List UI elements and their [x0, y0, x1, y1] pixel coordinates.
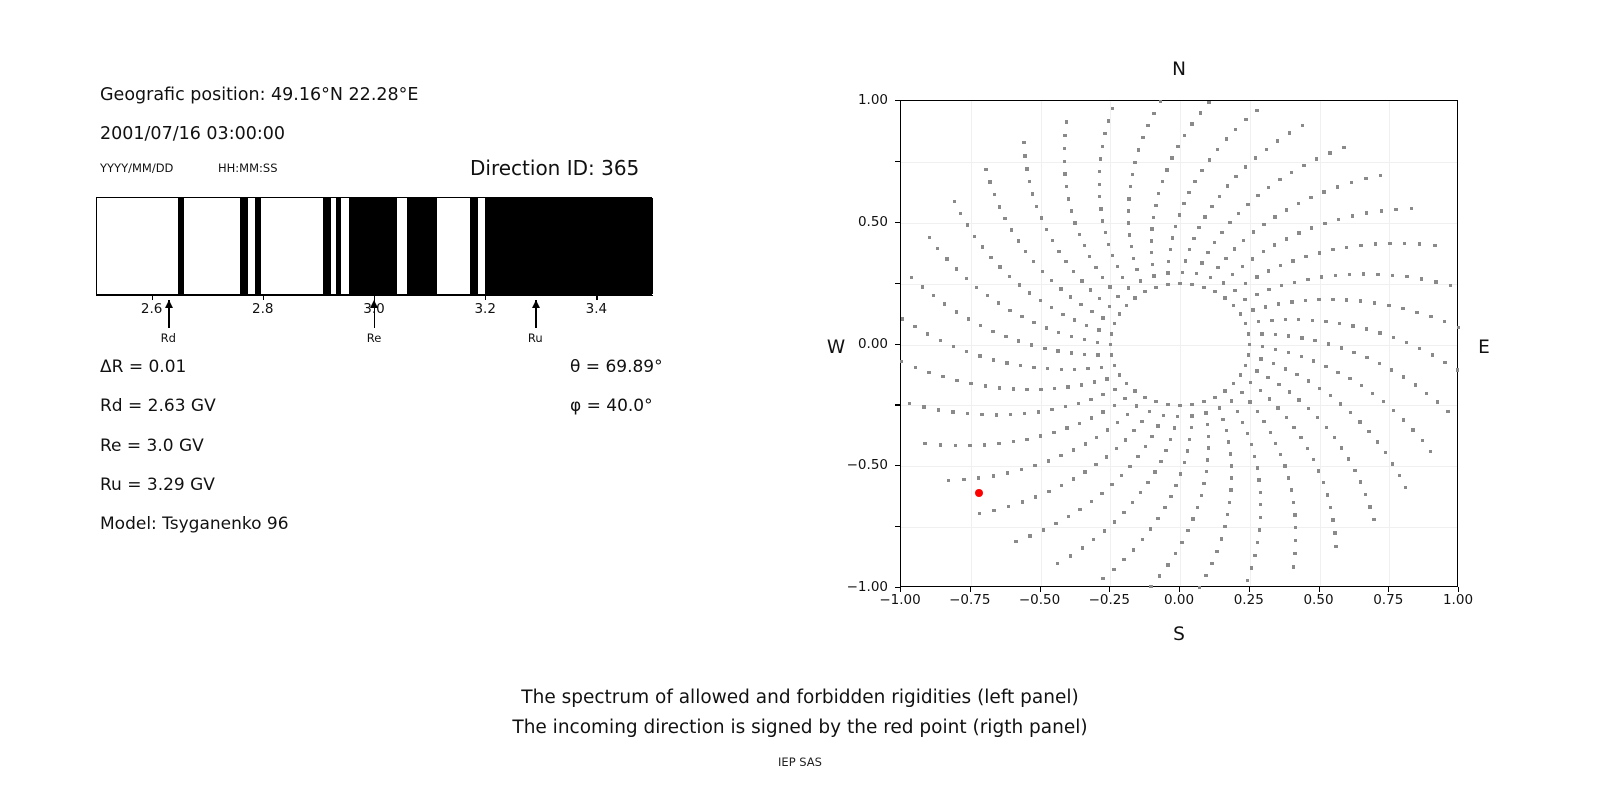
direction-point — [1329, 506, 1332, 509]
direction-point — [1336, 371, 1339, 374]
direction-point — [1306, 447, 1309, 450]
direction-point — [1300, 355, 1303, 358]
direction-point — [1132, 257, 1135, 260]
grid-line-vertical — [1041, 101, 1042, 586]
direction-point — [1279, 453, 1282, 456]
direction-point — [1292, 501, 1295, 504]
direction-point — [1149, 527, 1152, 530]
direction-point — [1274, 348, 1277, 351]
direction-point — [1220, 537, 1223, 540]
plot-x-tick-label: 0.00 — [1164, 592, 1194, 608]
direction-point — [1283, 464, 1286, 467]
direction-point — [1359, 299, 1362, 302]
direction-point — [1053, 387, 1056, 390]
direction-point — [1083, 470, 1086, 473]
direction-point — [1065, 120, 1068, 123]
direction-point — [1199, 111, 1202, 114]
direction-point — [1255, 293, 1258, 296]
direction-point — [1178, 282, 1181, 285]
direction-point — [1111, 107, 1114, 110]
direction-point — [1125, 382, 1128, 385]
direction-point — [1405, 275, 1408, 278]
direction-point — [1379, 174, 1382, 177]
direction-point — [1290, 171, 1293, 174]
direction-point — [1285, 416, 1288, 419]
direction-point — [1182, 202, 1185, 205]
direction-point — [1226, 513, 1229, 516]
direction-point — [1215, 550, 1218, 553]
direction-point — [1297, 231, 1300, 234]
direction-point — [1244, 322, 1247, 325]
direction-point — [1322, 190, 1325, 193]
direction-point — [1337, 218, 1340, 221]
direction-point — [998, 205, 1001, 208]
direction-point — [1132, 429, 1135, 432]
direction-point — [1349, 411, 1352, 414]
direction-point — [1190, 122, 1193, 125]
direction-point — [1095, 436, 1098, 439]
direction-point — [1100, 366, 1103, 369]
direction-point — [1231, 273, 1234, 276]
direction-point — [1101, 577, 1104, 580]
direction-point — [1259, 357, 1262, 360]
direction-point — [1239, 373, 1242, 376]
direction-point — [1287, 334, 1290, 337]
direction-point — [1418, 347, 1421, 350]
direction-point — [1190, 426, 1193, 429]
direction-point — [1073, 221, 1076, 224]
direction-point — [1351, 214, 1354, 217]
direction-point — [1402, 375, 1405, 378]
direction-point — [1360, 384, 1363, 387]
direction-point — [1265, 148, 1268, 151]
direction-point — [1268, 397, 1271, 400]
direction-point — [1024, 250, 1027, 253]
direction-point — [1293, 281, 1296, 284]
direction-point — [1254, 156, 1257, 159]
direction-point — [901, 317, 904, 320]
direction-point — [1141, 538, 1144, 541]
direction-point — [984, 168, 987, 171]
direction-point — [1118, 312, 1121, 315]
direction-point — [1174, 484, 1177, 487]
direction-point — [921, 285, 924, 288]
direction-point — [1128, 465, 1131, 468]
direction-point — [1340, 346, 1343, 349]
direction-point — [1078, 422, 1081, 425]
direction-point — [1059, 454, 1062, 457]
direction-point — [1161, 180, 1164, 183]
direction-point — [1293, 552, 1296, 555]
direction-point — [1080, 383, 1083, 386]
direction-point — [1257, 478, 1260, 481]
direction-point — [1081, 546, 1084, 549]
direction-point — [1127, 197, 1130, 200]
direction-point — [1063, 160, 1066, 163]
direction-point — [1334, 545, 1337, 548]
direction-point — [1073, 318, 1076, 321]
direction-point — [1159, 100, 1162, 103]
direction-point — [1280, 284, 1283, 287]
direction-point — [1017, 339, 1020, 342]
plot-y-tick — [895, 283, 900, 284]
direction-point — [1242, 239, 1245, 242]
direction-point — [1285, 237, 1288, 240]
direction-point — [1258, 528, 1261, 531]
direction-point — [939, 443, 942, 446]
direction-point — [914, 366, 917, 369]
direction-point — [1317, 298, 1320, 301]
direction-point — [1394, 208, 1397, 211]
direction-point — [1135, 404, 1138, 407]
direction-point — [1118, 373, 1121, 376]
direction-point — [1190, 283, 1193, 286]
direction-point — [1179, 472, 1182, 475]
direction-point — [1166, 403, 1169, 406]
direction-point — [1101, 393, 1104, 396]
direction-point — [1107, 119, 1110, 122]
direction-point — [1277, 302, 1280, 305]
direction-point — [1255, 369, 1258, 372]
direction-point — [1301, 124, 1304, 127]
direction-point — [1285, 208, 1288, 211]
direction-point — [1364, 493, 1367, 496]
grid-line-horizontal — [901, 527, 1457, 528]
direction-point — [1008, 309, 1011, 312]
grid-line-vertical — [971, 101, 972, 586]
direction-point — [1348, 377, 1351, 380]
direction-point — [947, 479, 950, 482]
plot-x-tick-label: −0.50 — [1019, 592, 1060, 608]
direction-point — [1205, 470, 1208, 473]
direction-point — [1125, 304, 1128, 307]
direction-point — [1090, 416, 1093, 419]
direction-point — [1302, 164, 1305, 167]
direction-point — [1252, 230, 1255, 233]
direction-point — [1046, 367, 1049, 370]
direction-point — [1220, 231, 1223, 234]
plot-x-tick-label: 0.75 — [1373, 592, 1403, 608]
direction-point — [1060, 484, 1063, 487]
direction-point — [1324, 365, 1327, 368]
direction-point — [1152, 216, 1155, 219]
direction-point — [1133, 296, 1136, 299]
direction-point — [937, 408, 940, 411]
direction-point — [1202, 482, 1205, 485]
direction-point — [910, 276, 913, 279]
direction-point — [1362, 272, 1365, 275]
direction-point — [1170, 156, 1173, 159]
direction-point — [1200, 169, 1203, 172]
direction-point — [1241, 421, 1244, 424]
direction-point — [1378, 331, 1381, 334]
direction-point — [1353, 469, 1356, 472]
direction-point — [1429, 450, 1432, 453]
direction-point — [1287, 476, 1290, 479]
direction-point — [1099, 157, 1102, 160]
direction-point — [1274, 333, 1277, 336]
direction-point — [1277, 383, 1280, 386]
direction-point — [1278, 178, 1281, 181]
direction-point — [1267, 288, 1270, 291]
direction-point — [1105, 455, 1108, 458]
direction-point — [1364, 177, 1367, 180]
plot-x-tick-label: 0.50 — [1303, 592, 1333, 608]
direction-point — [986, 294, 989, 297]
direction-point — [1276, 139, 1279, 142]
direction-point — [1228, 501, 1231, 504]
direction-point — [1023, 412, 1026, 415]
direction-point — [1143, 290, 1146, 293]
direction-point — [1174, 552, 1177, 555]
direction-point — [1226, 184, 1229, 187]
direction-point — [1338, 322, 1341, 325]
compass-south-label: S — [1173, 624, 1185, 645]
direction-point — [1063, 134, 1066, 137]
direction-point — [1006, 471, 1009, 474]
direction-point — [1251, 257, 1254, 260]
direction-point — [1376, 440, 1379, 443]
direction-point — [1378, 362, 1381, 365]
direction-point — [1256, 541, 1259, 544]
direction-point — [1329, 394, 1332, 397]
direction-point — [1152, 274, 1155, 277]
direction-point — [1367, 430, 1370, 433]
direction-point — [952, 345, 955, 348]
direction-point — [1103, 132, 1106, 135]
direction-point — [1060, 368, 1063, 371]
direction-point — [1244, 282, 1247, 285]
direction-point — [1186, 529, 1189, 532]
direction-point — [968, 444, 971, 447]
direction-point — [1028, 180, 1031, 183]
direction-point — [1086, 367, 1089, 370]
selected-direction-point — [975, 489, 984, 498]
direction-point — [1350, 181, 1353, 184]
direction-point — [1443, 361, 1446, 364]
direction-point — [1256, 466, 1259, 469]
direction-point — [1113, 520, 1116, 523]
direction-point — [1333, 531, 1336, 534]
direction-point — [1297, 398, 1300, 401]
direction-point — [1457, 326, 1460, 329]
direction-point — [1418, 242, 1421, 245]
direction-point — [992, 474, 995, 477]
direction-point — [1120, 474, 1123, 477]
direction-point — [1169, 248, 1172, 251]
direction-point — [1342, 146, 1345, 149]
direction-point — [1067, 515, 1070, 518]
direction-point — [1431, 353, 1434, 356]
direction-point — [1456, 368, 1459, 371]
plot-y-tick-label: 1.00 — [828, 92, 888, 108]
direction-point — [1173, 426, 1176, 429]
direction-point — [1247, 332, 1250, 335]
direction-point — [1094, 266, 1097, 269]
direction-point — [977, 476, 980, 479]
direction-point — [1154, 286, 1157, 289]
direction-point — [1110, 483, 1113, 486]
direction-point — [1083, 353, 1086, 356]
direction-point — [1141, 136, 1144, 139]
direction-point — [1293, 513, 1296, 516]
direction-point — [1018, 283, 1021, 286]
direction-point — [1090, 310, 1093, 313]
direction-point — [1306, 278, 1309, 281]
direction-point — [1135, 268, 1138, 271]
direction-point — [1259, 491, 1262, 494]
direction-point — [1139, 491, 1142, 494]
direction-point — [1070, 351, 1073, 354]
direction-point — [1218, 195, 1221, 198]
direction-point — [1116, 421, 1119, 424]
direction-point — [1169, 438, 1172, 441]
direction-point — [1260, 332, 1263, 335]
direction-point — [1005, 361, 1008, 364]
direction-point — [1112, 568, 1115, 571]
direction-point — [1084, 442, 1087, 445]
direction-point — [1234, 128, 1237, 131]
direction-point — [1274, 442, 1277, 445]
direction-point — [1376, 273, 1379, 276]
direction-point — [1288, 131, 1291, 134]
direction-point — [1101, 219, 1104, 222]
direction-point — [1232, 382, 1235, 385]
direction-point — [1300, 336, 1303, 339]
direction-point — [1154, 400, 1157, 403]
direction-point — [1116, 295, 1119, 298]
direction-point — [1206, 458, 1209, 461]
direction-point — [1131, 501, 1134, 504]
direction-point — [1101, 276, 1104, 279]
direction-point — [1103, 529, 1106, 532]
direction-point — [1047, 459, 1050, 462]
direction-point — [1339, 402, 1342, 405]
direction-point — [1057, 331, 1060, 334]
direction-point — [1192, 237, 1195, 240]
direction-point — [1411, 428, 1414, 431]
direction-point — [1297, 318, 1300, 321]
direction-point — [1167, 260, 1170, 263]
direction-point — [1225, 137, 1228, 140]
direction-point — [1294, 539, 1297, 542]
direction-point — [1156, 424, 1159, 427]
direction-point — [1250, 443, 1253, 446]
direction-point — [1259, 503, 1262, 506]
direction-point — [1323, 222, 1326, 225]
direction-point — [1207, 446, 1210, 449]
direction-point — [1358, 420, 1361, 423]
direction-point — [1183, 134, 1186, 137]
direction-point — [1077, 402, 1080, 405]
direction-point — [1312, 458, 1315, 461]
direction-point — [1089, 398, 1092, 401]
direction-point — [1014, 540, 1017, 543]
direction-point — [978, 354, 981, 357]
direction-point — [1198, 586, 1201, 589]
direction-point — [1079, 303, 1082, 306]
direction-point — [983, 443, 986, 446]
direction-point — [1436, 400, 1439, 403]
direction-point — [1269, 431, 1272, 434]
direction-point — [1259, 516, 1262, 519]
direction-point — [1186, 449, 1189, 452]
direction-point — [1150, 239, 1153, 242]
direction-point — [1063, 172, 1066, 175]
direction-point — [1307, 407, 1310, 410]
direction-point — [1022, 141, 1025, 144]
direction-point — [1190, 403, 1193, 406]
direction-point — [1083, 338, 1086, 341]
direction-point — [1050, 306, 1053, 309]
direction-point — [1032, 321, 1035, 324]
direction-point — [993, 193, 996, 196]
plot-x-tick-label: −1.00 — [879, 592, 920, 608]
direction-point — [1010, 228, 1013, 231]
direction-point — [945, 257, 948, 260]
direction-point — [1131, 173, 1134, 176]
direction-point — [1388, 242, 1391, 245]
direction-point — [1244, 118, 1247, 121]
direction-point — [1093, 380, 1096, 383]
direction-point — [1158, 574, 1161, 577]
direction-point — [1322, 481, 1325, 484]
direction-point — [1202, 400, 1205, 403]
direction-point — [1109, 343, 1112, 346]
direction-point — [1250, 566, 1253, 569]
direction-point — [1312, 359, 1315, 362]
direction-point — [1304, 255, 1307, 258]
direction-point — [1061, 313, 1064, 316]
direction-point — [1264, 305, 1267, 308]
direction-point — [1365, 211, 1368, 214]
direction-point — [1246, 432, 1249, 435]
direction-point — [1347, 457, 1350, 460]
direction-point — [1151, 263, 1154, 266]
direction-point — [1166, 271, 1169, 274]
direction-point — [1040, 216, 1043, 219]
direction-point — [1229, 452, 1232, 455]
caption-line-2: The incoming direction is signed by the … — [0, 717, 1600, 738]
direction-point — [1315, 157, 1318, 160]
direction-point — [1047, 490, 1050, 493]
direction-point — [1191, 517, 1194, 520]
direction-point — [1234, 175, 1237, 178]
direction-point — [1153, 470, 1156, 473]
direction-point — [1108, 285, 1111, 288]
direction-point — [1405, 341, 1408, 344]
direction-point — [1127, 209, 1130, 212]
direction-point — [1304, 299, 1307, 302]
direction-point — [1033, 464, 1036, 467]
direction-point — [1402, 418, 1405, 421]
direction-point — [998, 386, 1001, 389]
direction-point — [1197, 226, 1200, 229]
direction-point — [1098, 195, 1101, 198]
direction-point — [1213, 241, 1216, 244]
direction-point — [1025, 167, 1028, 170]
direction-point — [975, 286, 978, 289]
direction-point — [1083, 244, 1086, 247]
direction-point — [1045, 326, 1048, 329]
direction-point — [973, 235, 976, 238]
direction-point — [1391, 274, 1394, 277]
direction-point — [1223, 296, 1226, 299]
direction-point — [953, 200, 956, 203]
grid-line-vertical — [1320, 101, 1321, 586]
direction-point — [1206, 423, 1209, 426]
direction-point — [1365, 356, 1368, 359]
